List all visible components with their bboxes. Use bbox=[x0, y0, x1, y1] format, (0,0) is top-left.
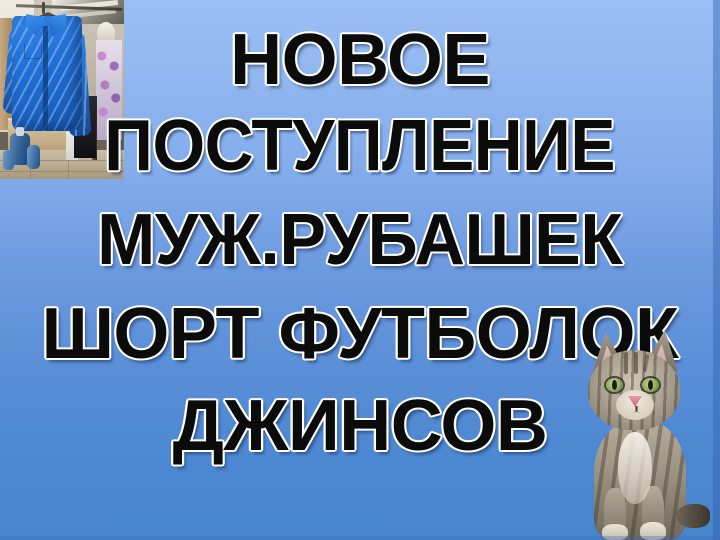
kitten-tail bbox=[676, 504, 710, 528]
kitten-paw-right bbox=[640, 522, 666, 540]
poster-canvas: НОВОЕ ПОСТУПЛЕНИЕ МУЖ.РУБАШЕК ШОРТ ФУТБО… bbox=[0, 0, 720, 540]
photo-water-jug-3 bbox=[3, 150, 14, 170]
photo-floor-grout-h2 bbox=[0, 171, 124, 172]
kitten-cutout bbox=[580, 328, 712, 540]
photo-water-jug-1-neck bbox=[16, 127, 24, 136]
kitten-pupil-left bbox=[612, 380, 617, 390]
kitten-pupil-right bbox=[648, 380, 653, 390]
kitten-chest-fur bbox=[618, 432, 652, 504]
headline-line-5: ДЖИНСОВ bbox=[173, 390, 548, 462]
kitten-forehead-stripe-2 bbox=[634, 352, 638, 374]
kitten-forehead-stripe-1 bbox=[624, 352, 628, 374]
photo-floral-garment bbox=[96, 40, 122, 140]
photo-hanger-hook bbox=[42, 2, 45, 14]
headline-line-2: ПОСТУПЛЕНИЕ bbox=[105, 110, 616, 182]
headline-line-3: МУЖ.РУБАШЕК bbox=[97, 204, 622, 276]
product-photo-blue-striped-shirt bbox=[0, 0, 124, 179]
photo-shirt-placket bbox=[43, 26, 48, 130]
headline-line-1: НОВОЕ bbox=[230, 24, 490, 96]
photo-shirt-pocket bbox=[24, 44, 42, 59]
photo-water-jug-2 bbox=[27, 145, 40, 169]
poster-right-edge bbox=[713, 0, 720, 540]
kitten-mouth-right bbox=[635, 406, 645, 413]
kitten-paw-left bbox=[602, 524, 628, 540]
